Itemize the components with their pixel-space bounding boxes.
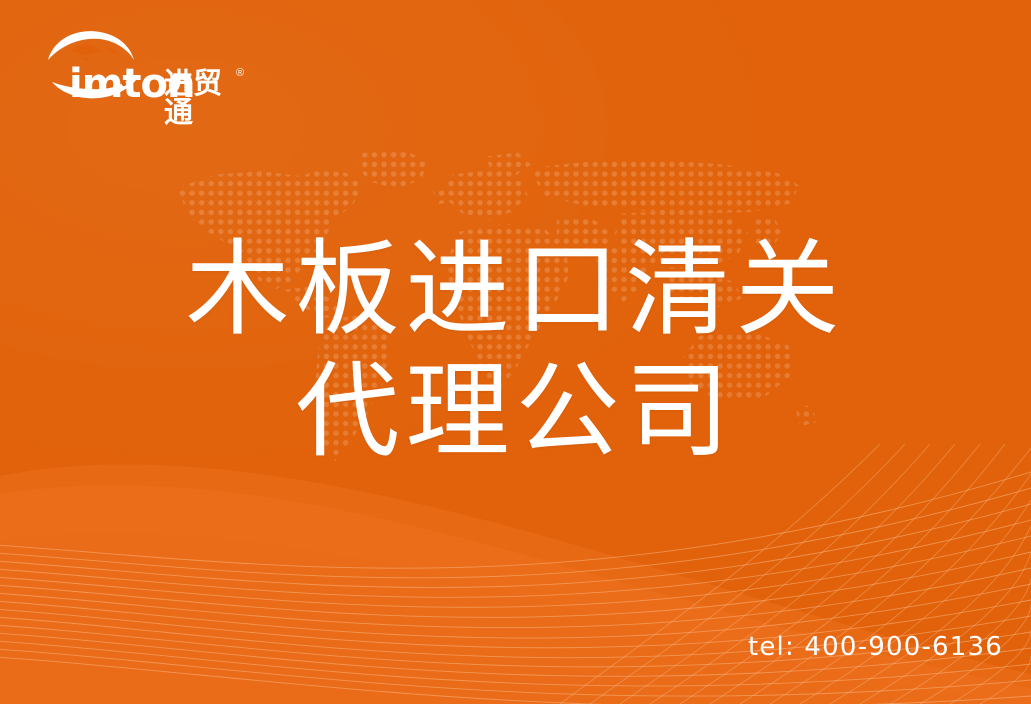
headline-line-1: 木板进口清关 — [0, 228, 1031, 350]
page-title: 木板进口清关 代理公司 — [0, 228, 1031, 472]
registered-trademark-icon: ® — [236, 68, 244, 79]
logo-chinese-name: 进贸通 — [164, 69, 246, 127]
contact-phone[interactable]: tel: 400-900-6136 — [748, 634, 1003, 660]
headline-line-2: 代理公司 — [0, 350, 1031, 472]
brand-logo[interactable]: imton 进贸通 ® — [36, 26, 246, 104]
promo-banner: imton 进贸通 ® 木板进口清关 代理公司 tel: 400-900-613… — [0, 0, 1031, 704]
